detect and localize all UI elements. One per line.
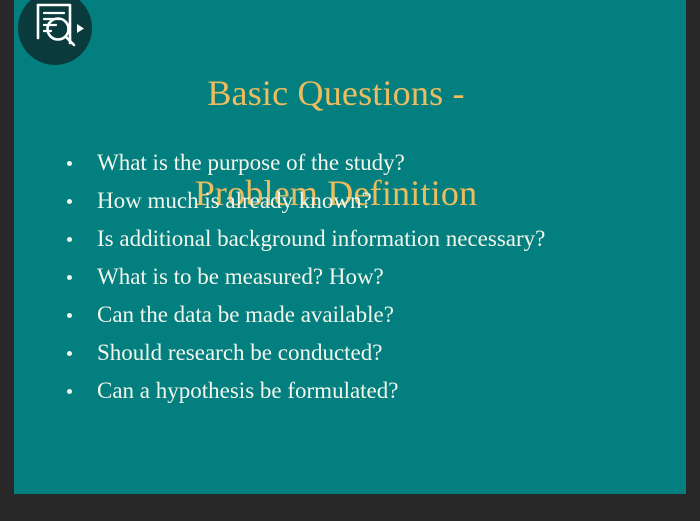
bullet-dot-icon <box>67 313 72 318</box>
list-item-label: What is to be measured? How? <box>97 258 384 296</box>
bullet-dot-icon <box>67 351 72 356</box>
bullet-dot-icon <box>67 389 72 394</box>
list-item: What is to be measured? How? <box>62 258 672 296</box>
list-item-label: Can the data be made available? <box>97 296 394 334</box>
list-item: Should research be conducted? <box>62 334 672 372</box>
bullet-dot-icon <box>67 237 72 242</box>
list-item: Can the data be made available? <box>62 296 672 334</box>
list-item: Is additional background information nec… <box>62 220 672 258</box>
bullet-dot-icon <box>67 275 72 280</box>
bullet-dot-icon <box>67 161 72 166</box>
list-item: What is the purpose of the study? <box>62 144 672 182</box>
presentation-slide: Basic Questions - Problem Definition Wha… <box>14 0 686 494</box>
list-item-label: Should research be conducted? <box>97 334 382 372</box>
list-item-label: How much is already known? <box>97 182 372 220</box>
bullet-list: What is the purpose of the study? How mu… <box>62 144 672 410</box>
bullet-dot-icon <box>67 199 72 204</box>
slide-title-line-1: Basic Questions - <box>14 68 672 118</box>
list-item-label: Is additional background information nec… <box>97 220 545 258</box>
list-item-label: Can a hypothesis be formulated? <box>97 372 398 410</box>
list-item-label: What is the purpose of the study? <box>97 144 405 182</box>
list-item: How much is already known? <box>62 182 672 220</box>
page-viewport: Basic Questions - Problem Definition Wha… <box>0 0 700 521</box>
list-item: Can a hypothesis be formulated? <box>62 372 672 410</box>
